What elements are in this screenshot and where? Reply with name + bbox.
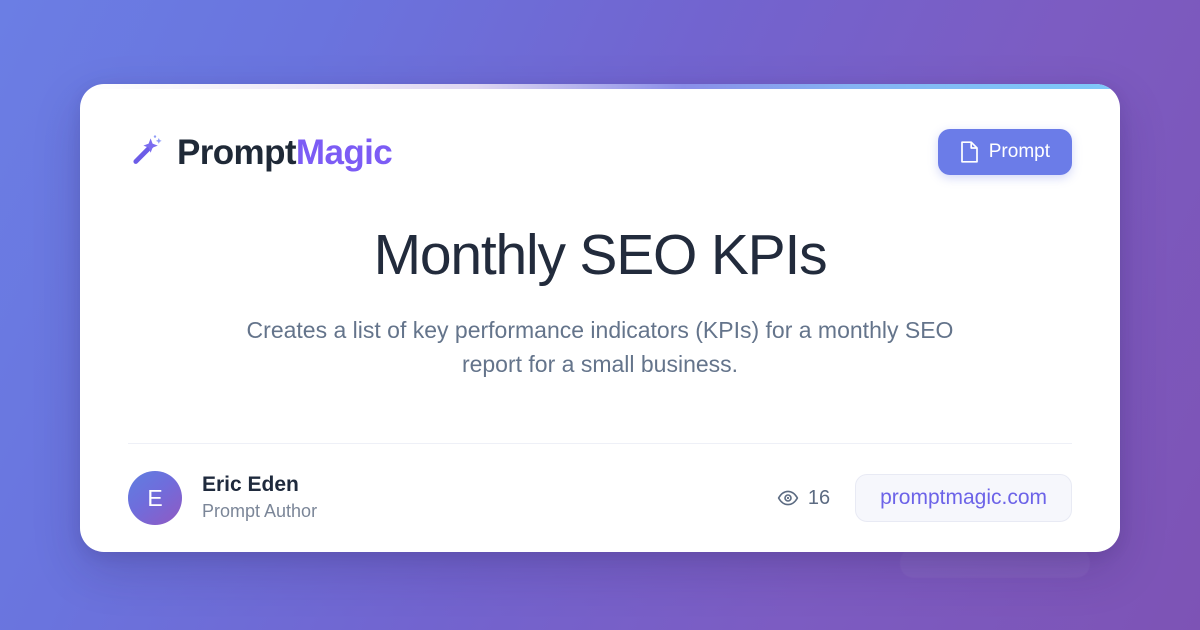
- card-drop-shadow-artifact: [900, 548, 1090, 578]
- brand-name-primary: Prompt: [177, 133, 296, 172]
- card-content: PromptMagic Prompt Monthly SEO KPIs Crea…: [80, 84, 1120, 443]
- view-count: 16: [777, 487, 830, 510]
- prompt-description: Creates a list of key performance indica…: [220, 313, 980, 382]
- card-footer: E Eric Eden Prompt Author 16 promptmagic…: [80, 444, 1120, 552]
- site-badge-label: promptmagic.com: [880, 486, 1047, 510]
- avatar: E: [128, 471, 182, 525]
- prompt-share-card: PromptMagic Prompt Monthly SEO KPIs Crea…: [80, 84, 1120, 552]
- eye-icon: [777, 487, 799, 509]
- author-role: Prompt Author: [202, 500, 317, 523]
- card-accent-bar: [80, 84, 1120, 89]
- brand-logo[interactable]: PromptMagic: [128, 134, 392, 170]
- page-title: Monthly SEO KPIs: [374, 224, 827, 287]
- brand-name: PromptMagic: [177, 135, 392, 170]
- card-header: PromptMagic Prompt: [128, 128, 1072, 176]
- author-name: Eric Eden: [202, 472, 317, 498]
- footer-right: 16 promptmagic.com: [777, 474, 1072, 522]
- magic-wand-icon: [128, 134, 164, 170]
- prompt-button[interactable]: Prompt: [938, 129, 1072, 175]
- brand-name-accent: Magic: [296, 133, 392, 172]
- site-badge[interactable]: promptmagic.com: [855, 474, 1072, 522]
- author-block[interactable]: E Eric Eden Prompt Author: [128, 471, 317, 525]
- document-icon: [960, 141, 979, 163]
- card-body: Monthly SEO KPIs Creates a list of key p…: [128, 176, 1072, 443]
- author-text: Eric Eden Prompt Author: [202, 472, 317, 524]
- view-count-value: 16: [808, 487, 830, 510]
- prompt-button-label: Prompt: [989, 141, 1050, 163]
